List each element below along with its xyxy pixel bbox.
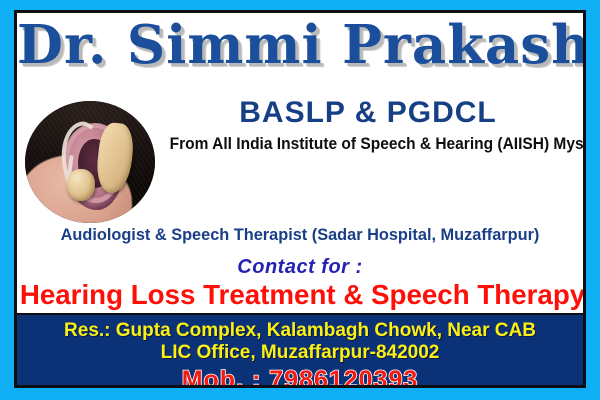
degrees-line: BASLP & PGDCL — [157, 97, 579, 129]
hearing-aid-earmould — [67, 169, 96, 201]
contact-for-label: Contact for : — [17, 256, 583, 279]
institute-line: From All India Institute of Speech & Hea… — [170, 135, 567, 153]
poster-card: Dr. Simmi Prakash BASLP & PGDCL From All… — [14, 10, 586, 388]
contact-footer-panel: Res.: Gupta Complex, Kalambagh Chowk, Ne… — [17, 313, 583, 385]
doctor-name: Dr. Simmi Prakash — [17, 19, 586, 72]
credentials-column: BASLP & PGDCL From All India Institute o… — [157, 97, 579, 153]
mobile-number[interactable]: Mob. : 7986120393 — [17, 367, 583, 388]
doctor-name-line: Dr. Simmi Prakash — [17, 19, 583, 72]
services-line: Hearing Loss Treatment & Speech Therapy — [20, 281, 580, 309]
address-line-1: Res.: Gupta Complex, Kalambagh Chowk, Ne… — [17, 320, 583, 342]
designation-line: Audiologist & Speech Therapist (Sadar Ho… — [28, 225, 571, 245]
poster-upper-section: Dr. Simmi Prakash BASLP & PGDCL From All… — [17, 13, 583, 313]
address-line-2: LIC Office, Muzaffarpur-842002 — [17, 342, 583, 364]
ear-with-hearing-aid-photo — [25, 101, 155, 223]
advertisement-poster: Dr. Simmi Prakash BASLP & PGDCL From All… — [0, 0, 600, 400]
